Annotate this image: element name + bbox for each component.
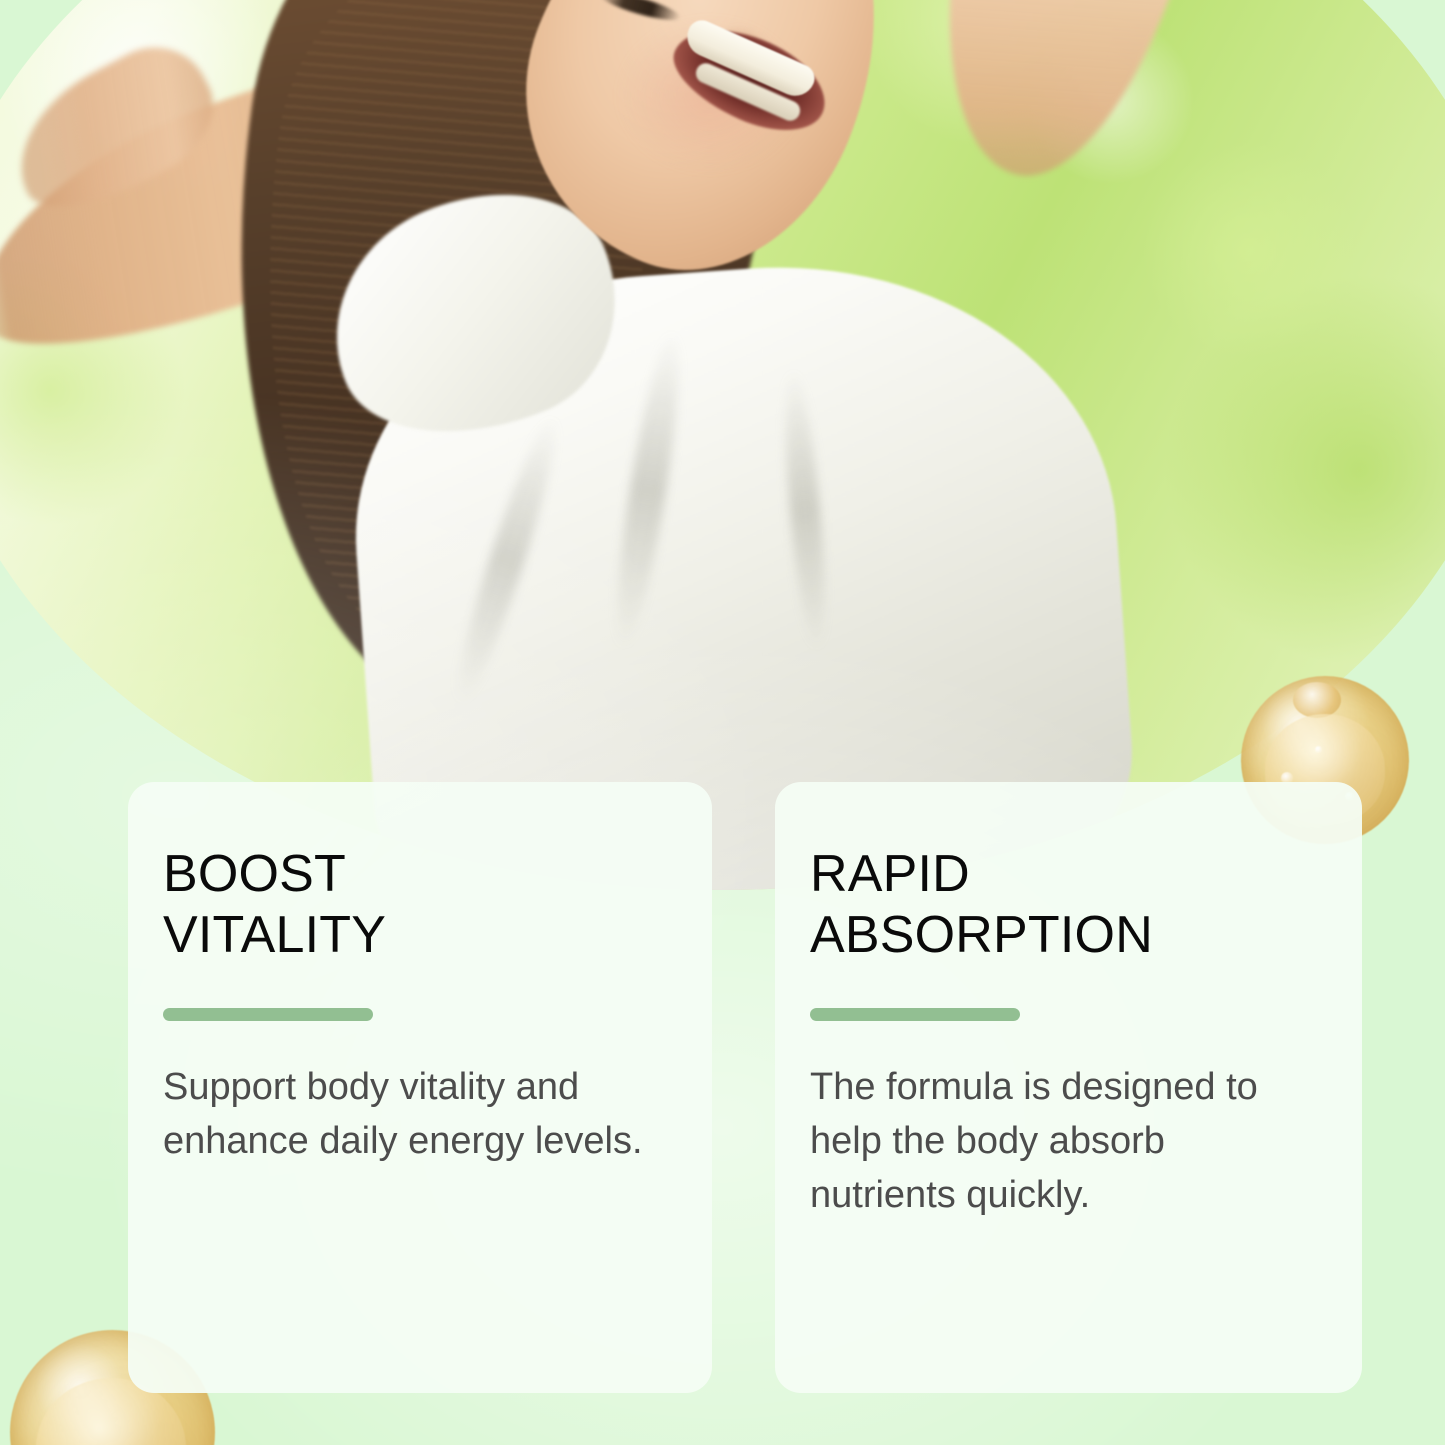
hero-photo-circle-mask xyxy=(0,0,1445,890)
droplet-bubble xyxy=(1293,682,1341,718)
feature-card-rapid-absorption: RAPID ABSORPTION The formula is designed… xyxy=(775,782,1362,1393)
feature-card-description: Support body vitality and enhance daily … xyxy=(163,1061,663,1169)
feature-card-title: RAPID ABSORPTION xyxy=(810,844,1320,966)
droplet-sparkle xyxy=(1315,746,1322,753)
feature-card-divider xyxy=(163,1008,373,1021)
feature-card-title: BOOST VITALITY xyxy=(163,844,670,966)
feature-card-boost-vitality: BOOST VITALITY Support body vitality and… xyxy=(128,782,712,1393)
feature-card-description: The formula is designed to help the body… xyxy=(810,1061,1310,1223)
feature-card-divider xyxy=(810,1008,1020,1021)
infographic-canvas: BOOST VITALITY Support body vitality and… xyxy=(0,0,1445,1445)
